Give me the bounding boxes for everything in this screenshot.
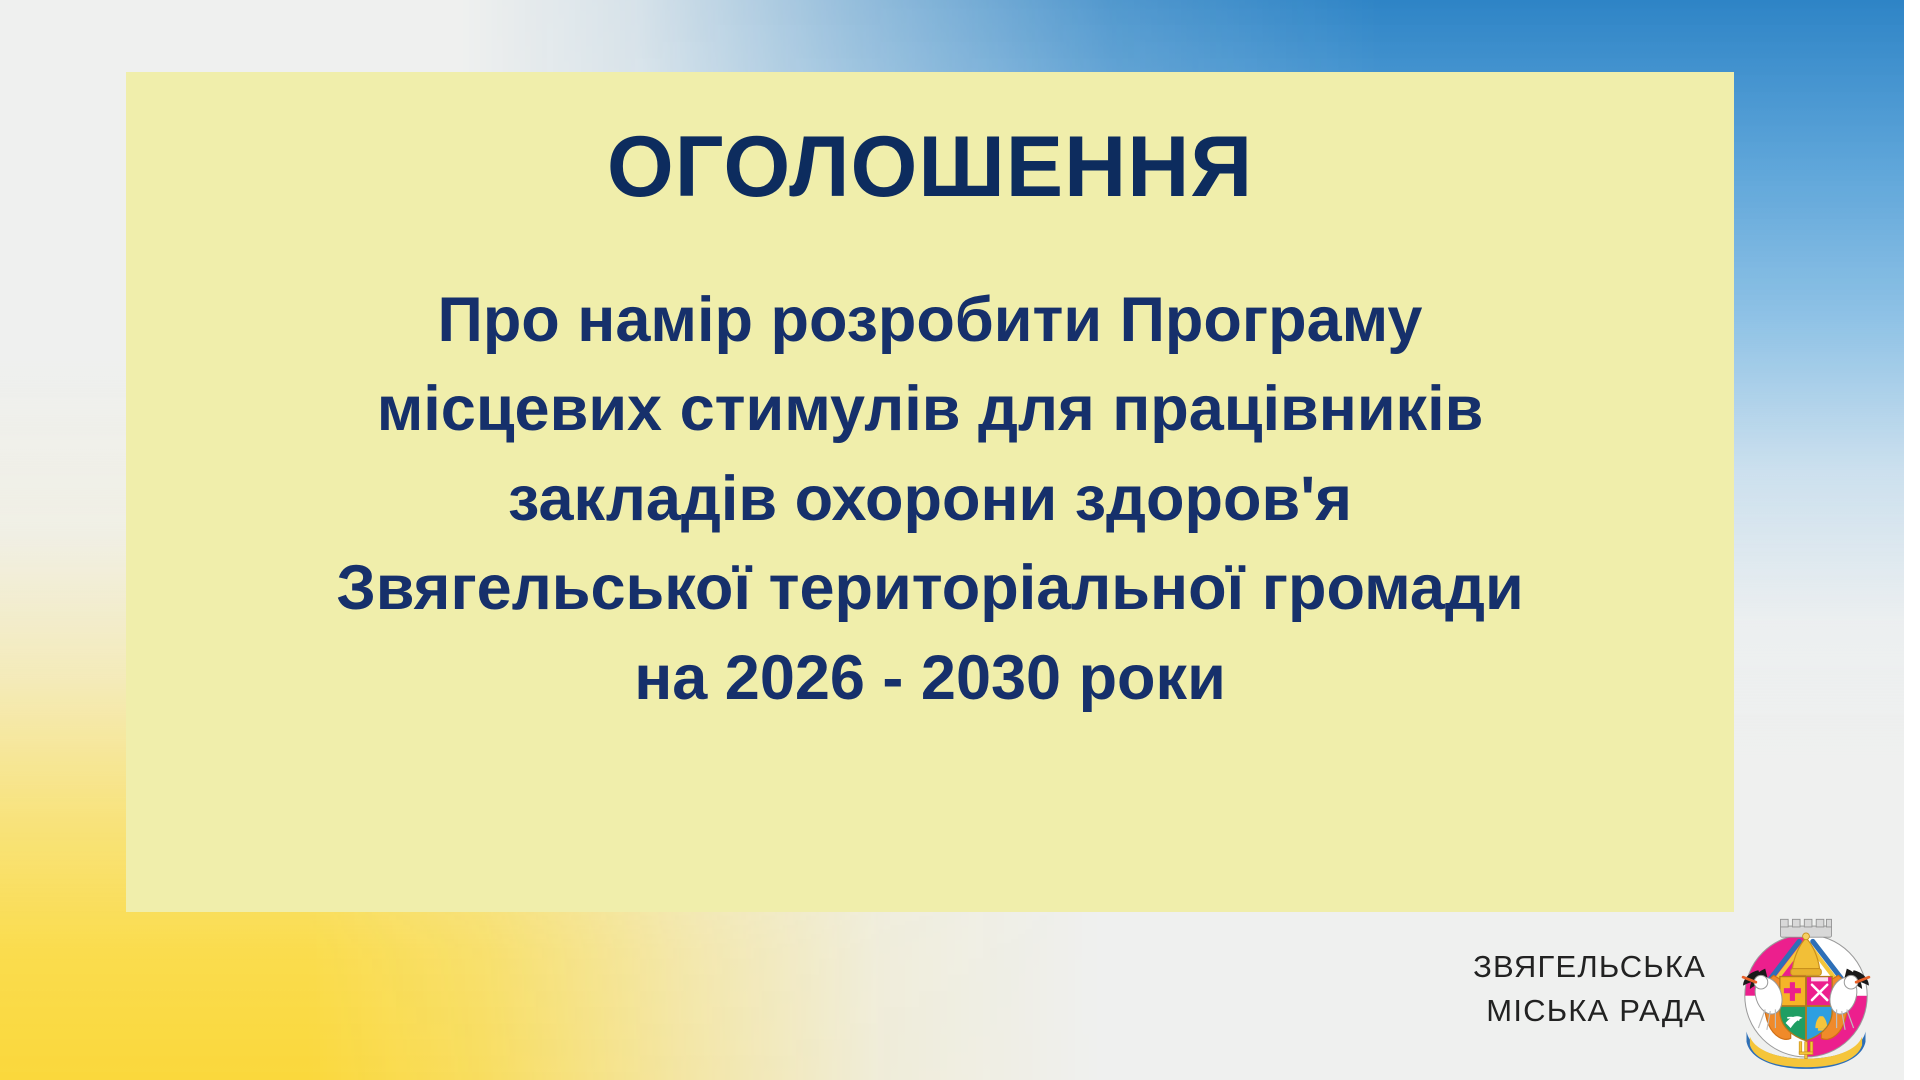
body-line-3: закладів охорони здоров'я xyxy=(126,455,1734,544)
council-logo-line-2: МІСЬКА РАДА xyxy=(1473,989,1706,1033)
body-line-1: Про намір розробити Програму xyxy=(126,276,1734,365)
background-right-white-strip xyxy=(1904,0,1920,1080)
announcement-body: Про намір розробити Програму місцевих ст… xyxy=(126,276,1734,723)
announcement-slide: ОГОЛОШЕННЯ Про намір розробити Програму … xyxy=(0,0,1920,1080)
council-logo: ЗВЯГЕЛЬСЬКА МІСЬКА РАДА xyxy=(1473,904,1892,1074)
body-line-2: місцевих стимулів для працівників xyxy=(126,365,1734,454)
zviahel-coat-of-arms-icon xyxy=(1720,904,1892,1074)
body-line-4: Звягельської територіальної громади xyxy=(126,544,1734,633)
page-title: ОГОЛОШЕННЯ xyxy=(607,124,1253,210)
announcement-panel: ОГОЛОШЕННЯ Про намір розробити Програму … xyxy=(126,72,1734,912)
council-logo-text: ЗВЯГЕЛЬСЬКА МІСЬКА РАДА xyxy=(1473,945,1706,1033)
council-logo-line-1: ЗВЯГЕЛЬСЬКА xyxy=(1473,945,1706,989)
body-line-5: на 2026 - 2030 роки xyxy=(126,634,1734,723)
